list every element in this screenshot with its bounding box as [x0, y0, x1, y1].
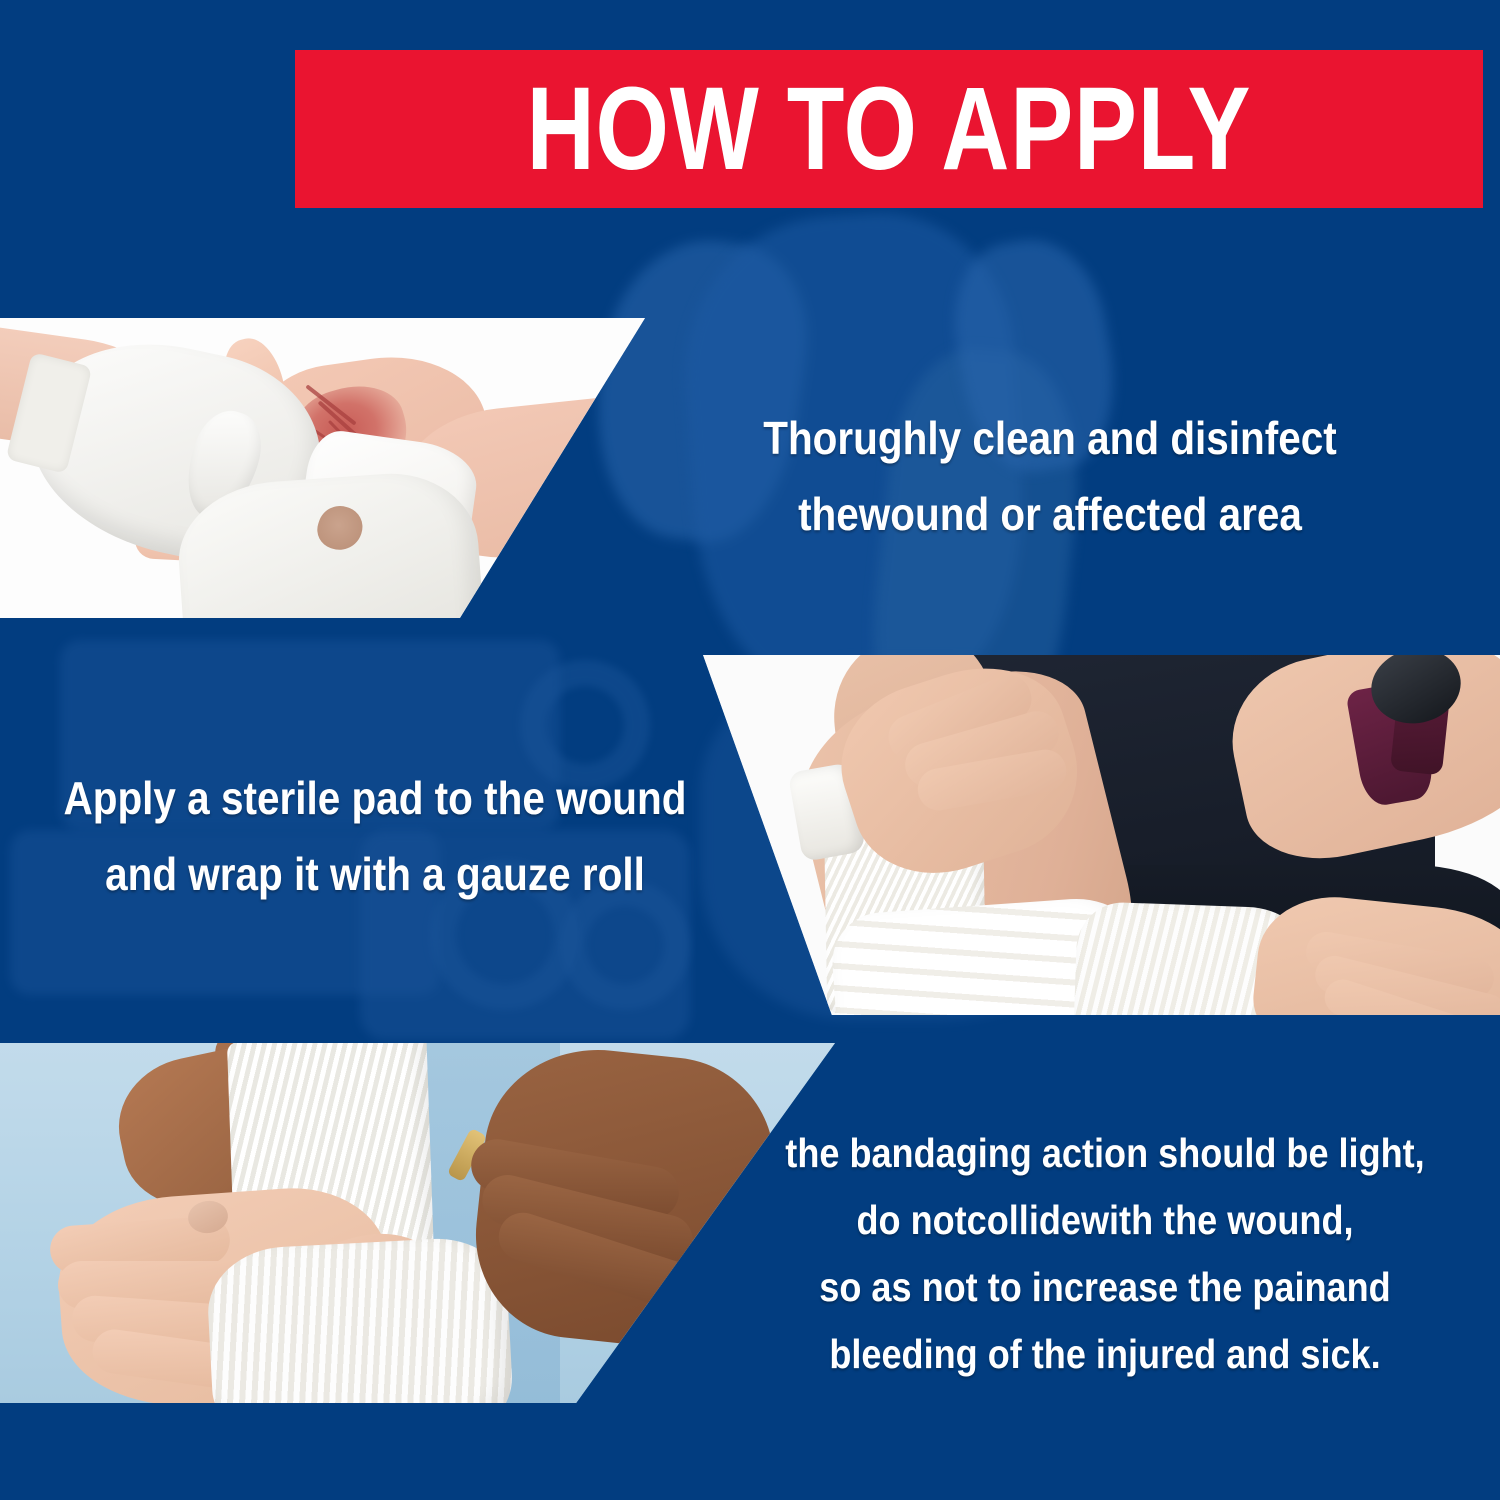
step-2-photo [695, 655, 1500, 1015]
step-2-caption: Apply a sterile pad to the wound and wra… [10, 760, 740, 912]
photo-bandaging-hand [0, 1043, 835, 1403]
page-title: HOW TO APPLY [527, 70, 1252, 188]
step-3-caption: the bandaging action should be light, do… [735, 1120, 1475, 1388]
poster-root: HOW TO APPLY Thorughly clean [0, 0, 1500, 1500]
step-1-line-1: Thorughly clean and disinfect [689, 400, 1411, 476]
photo-3-gauze-wrap [205, 1235, 515, 1403]
step-1-caption: Thorughly clean and disinfect thewound o… [640, 400, 1460, 552]
step-3-line-4: bleeding of the injured and sick. [779, 1321, 1430, 1388]
step-2-line-1: Apply a sterile pad to the wound [54, 760, 696, 836]
step-1-line-2: thewound or affected area [689, 476, 1411, 552]
photo-wrap-gauze-wrist [695, 655, 1500, 1015]
title-banner: HOW TO APPLY [295, 50, 1483, 208]
step-2-line-2: and wrap it with a gauze roll [54, 836, 696, 912]
step-3-line-3: so as not to increase the painand [779, 1254, 1430, 1321]
step-1-photo [0, 318, 645, 618]
step-3-line-2: do notcollidewith the wound, [779, 1187, 1430, 1254]
step-3-line-1: the bandaging action should be light, [779, 1120, 1430, 1187]
step-3-photo [0, 1043, 835, 1403]
photo-clean-wound [0, 318, 645, 618]
